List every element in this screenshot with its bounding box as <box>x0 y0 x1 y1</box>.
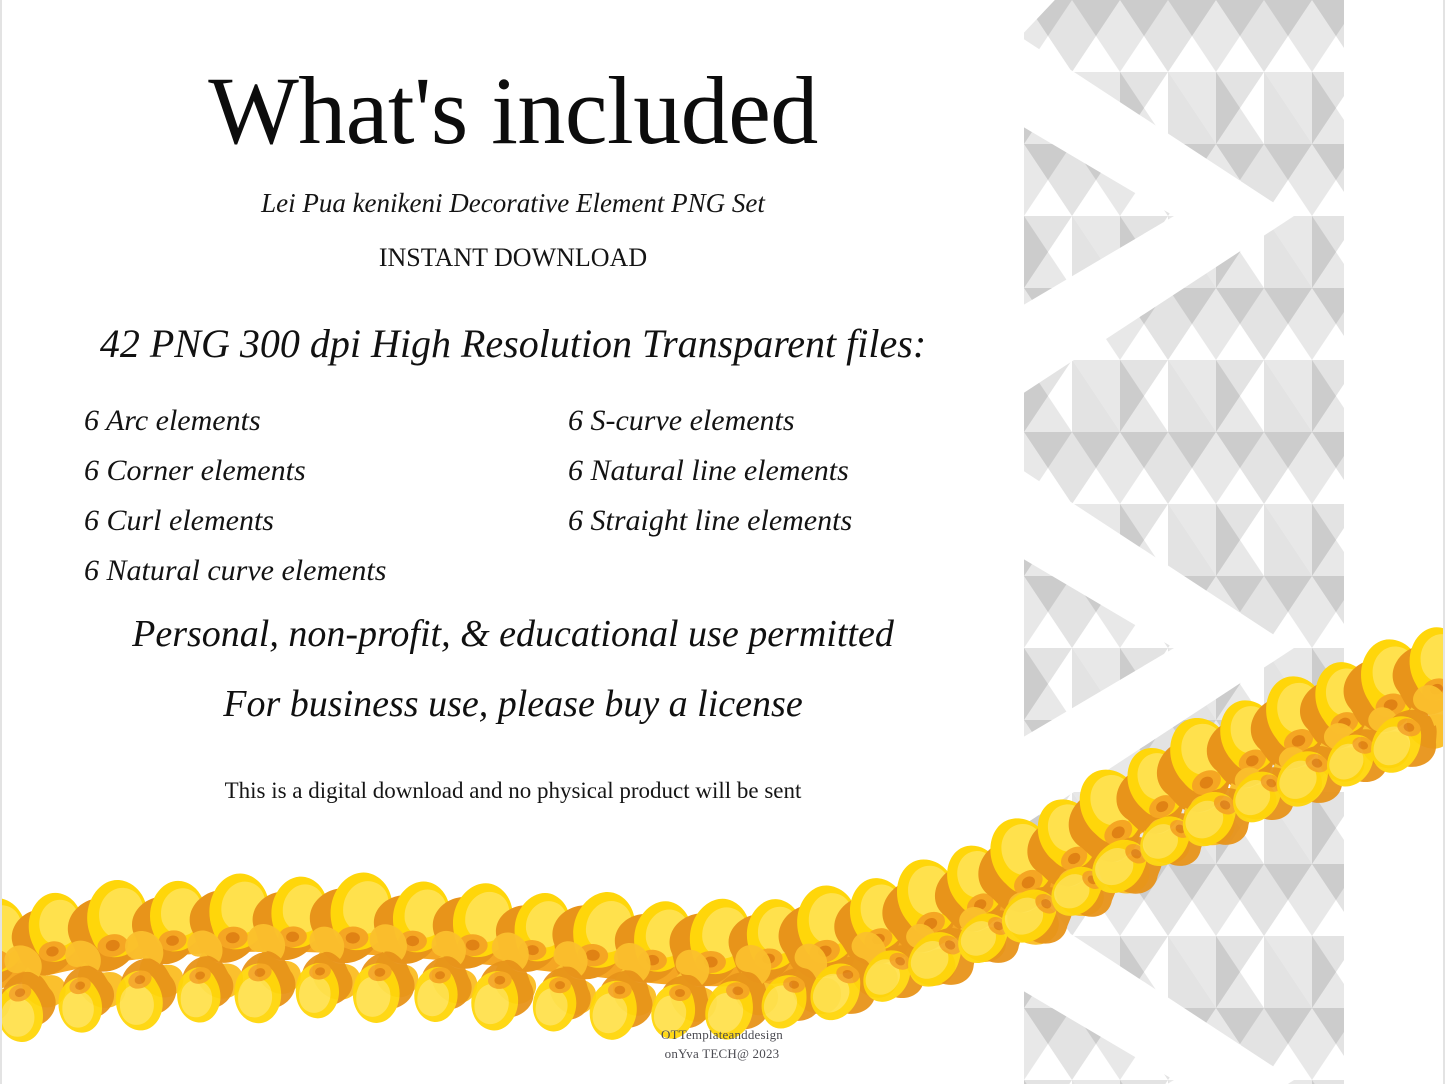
instant-download-label: INSTANT DOWNLOAD <box>2 243 1024 273</box>
credit-line-copyright: onYva TECH@ 2023 <box>562 1045 882 1064</box>
list-item: 6 Natural line elements <box>568 446 852 496</box>
text-content-block: What's included Lei Pua kenikeni Decorat… <box>2 0 1024 1084</box>
list-item: 6 Natural curve elements <box>84 546 386 596</box>
page-title: What's included <box>2 62 1024 160</box>
product-subtitle: Lei Pua kenikeni Decorative Element PNG … <box>2 188 1024 219</box>
poster-canvas: What's included Lei Pua kenikeni Decorat… <box>0 0 1445 1084</box>
footer-credit: OTTemplateanddesign onYva TECH@ 2023 <box>562 1026 882 1064</box>
credit-line-brand: OTTemplateanddesign <box>562 1026 882 1045</box>
items-column-right: 6 S-curve elements 6 Natural line elemen… <box>568 396 852 546</box>
items-column-left: 6 Arc elements 6 Corner elements 6 Curl … <box>84 396 386 596</box>
pattern-svg <box>1024 0 1350 1084</box>
list-item: 6 Curl elements <box>84 496 386 546</box>
files-section-heading: 42 PNG 300 dpi High Resolution Transpare… <box>2 320 1024 367</box>
permission-line-business: For business use, please buy a license <box>2 682 1024 726</box>
list-item: 6 Arc elements <box>84 396 386 446</box>
list-item: 6 Corner elements <box>84 446 386 496</box>
list-item: 6 Straight line elements <box>568 496 852 546</box>
list-item: 6 S-curve elements <box>568 396 852 446</box>
included-items-columns: 6 Arc elements 6 Corner elements 6 Curl … <box>2 396 1024 596</box>
permission-line-personal: Personal, non-profit, & educational use … <box>2 612 1024 656</box>
triangle-chevron-pattern-panel <box>1024 0 1350 1084</box>
digital-download-disclaimer: This is a digital download and no physic… <box>2 778 1024 804</box>
